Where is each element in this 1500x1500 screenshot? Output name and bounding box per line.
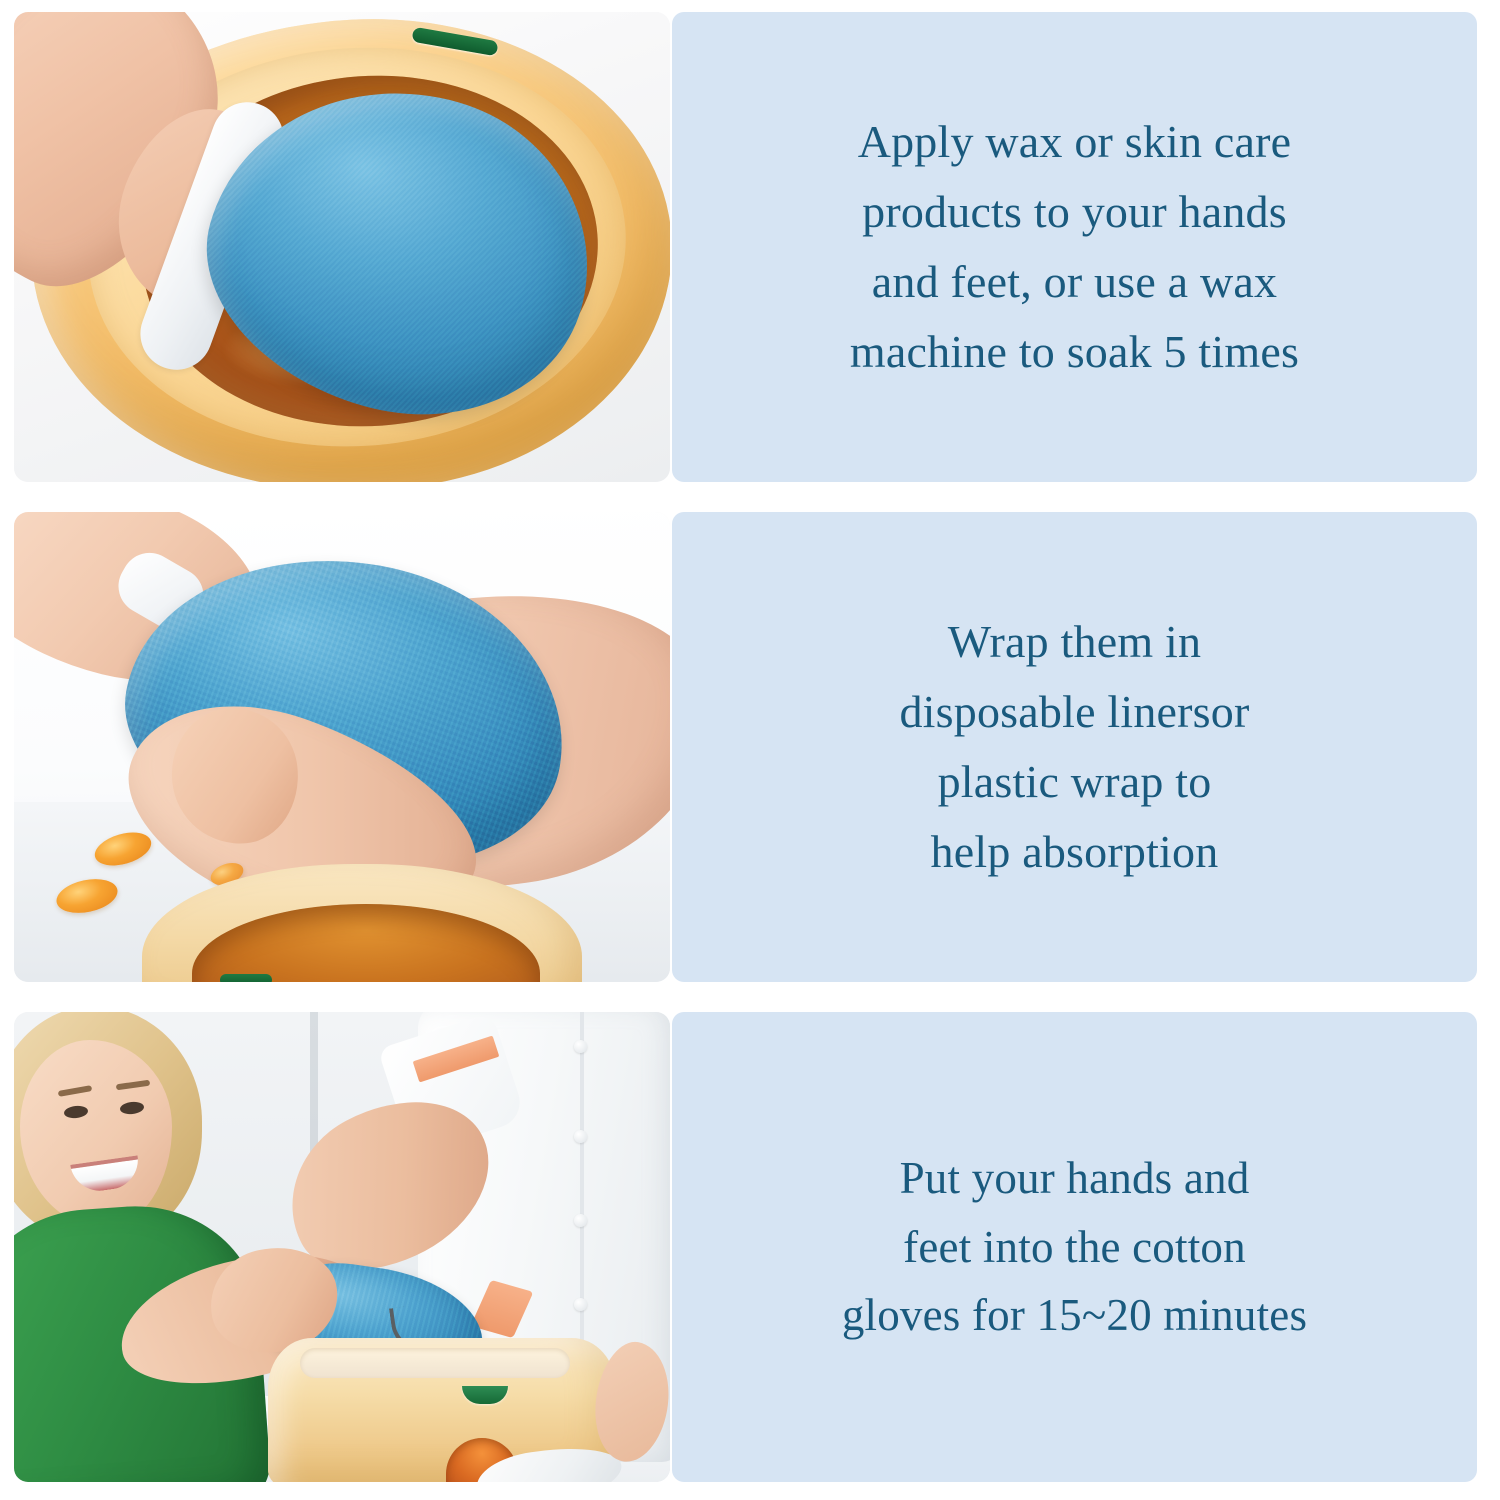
caption-line: products to your hands	[706, 177, 1443, 247]
caption-line: feet into the cotton	[706, 1213, 1443, 1281]
caption-line: Apply wax or skin care	[706, 107, 1443, 177]
step-1-text-panel: Apply wax or skin care products to your …	[672, 12, 1477, 482]
caption-line: disposable linersor	[706, 677, 1443, 747]
caption-line: plastic wrap to	[706, 747, 1443, 817]
caption-line: Wrap them in	[706, 607, 1443, 677]
instruction-sheet: Apply wax or skin care products to your …	[0, 0, 1500, 1500]
caption-line: Put your hands and	[706, 1144, 1443, 1212]
coat-button	[574, 1214, 587, 1227]
indicator-light-icon	[220, 974, 272, 982]
caption-line: machine to soak 5 times	[706, 317, 1443, 387]
caption-line: and feet, or use a wax	[706, 247, 1443, 317]
step-row-1: Apply wax or skin care products to your …	[0, 12, 1500, 482]
coat-button	[574, 1298, 587, 1311]
wax-bath-dip-scene	[14, 12, 670, 482]
step-2-text-panel: Wrap them in disposable linersor plastic…	[672, 512, 1477, 982]
step-row-3: Put your hands and feet into the cotton …	[0, 1012, 1500, 1482]
caption-line: help absorption	[706, 817, 1443, 887]
mitt-wrapping-scene	[14, 512, 670, 982]
step-row-2: Wrap them in disposable linersor plastic…	[0, 512, 1500, 982]
coat-button	[574, 1040, 587, 1053]
step-2-caption: Wrap them in disposable linersor plastic…	[706, 607, 1443, 887]
step-3-text-panel: Put your hands and feet into the cotton …	[672, 1012, 1477, 1482]
step-1-caption: Apply wax or skin care products to your …	[706, 107, 1443, 387]
step-1-photo	[14, 12, 670, 482]
coat-button	[574, 1130, 587, 1143]
caption-line: gloves for 15~20 minutes	[706, 1281, 1443, 1349]
step-3-photo	[14, 1012, 670, 1482]
step-3-caption: Put your hands and feet into the cotton …	[706, 1144, 1443, 1349]
machine-lid	[300, 1348, 570, 1378]
step-2-photo	[14, 512, 670, 982]
salon-treatment-scene	[14, 1012, 670, 1482]
